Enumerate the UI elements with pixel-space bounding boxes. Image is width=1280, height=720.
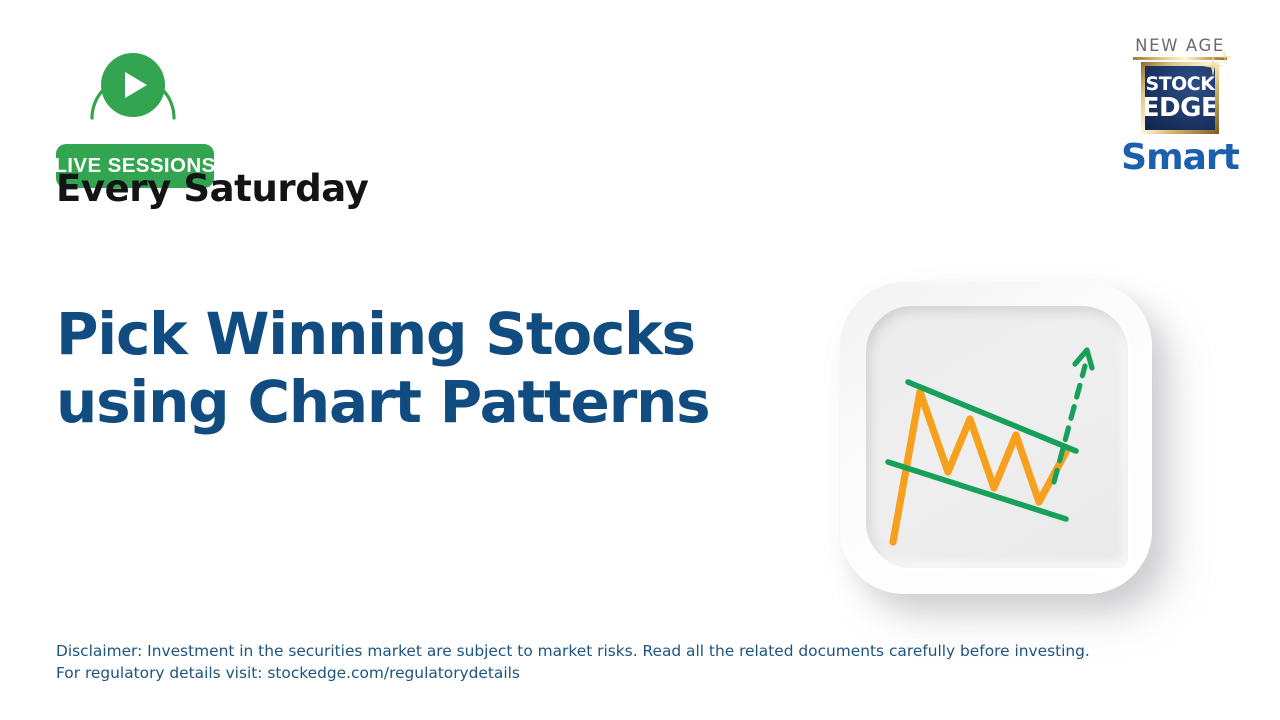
- headline-line-1: Pick Winning Stocks: [56, 300, 856, 368]
- schedule-text: Every Saturday: [56, 167, 368, 210]
- page-title: Pick Winning Stocks using Chart Patterns: [56, 300, 856, 436]
- disclaimer-line-1: Disclaimer: Investment in the securities…: [56, 640, 1090, 662]
- gold-divider-line: [1133, 57, 1227, 60]
- rounded-square-card: [840, 282, 1152, 594]
- brand-tagline: NEW AGE: [1135, 36, 1225, 56]
- stockedge-logo-inner: STOCK EDGE: [1145, 66, 1215, 130]
- logo-text-smart: Smart: [1121, 138, 1239, 178]
- disclaimer-line-2: For regulatory details visit: stockedge.…: [56, 662, 1090, 684]
- disclaimer-text: Disclaimer: Investment in the securities…: [56, 640, 1090, 684]
- upper-trendline: [908, 382, 1076, 451]
- slide-canvas: LIVE SESSIONS Every Saturday Pick Winnin…: [0, 0, 1280, 720]
- card-inner-face: [866, 306, 1128, 568]
- stockedge-logo-square: STOCK EDGE: [1141, 62, 1219, 134]
- chart-pattern-svg: [866, 306, 1128, 568]
- stockedge-smart-logo: NEW AGE STOCK EDGE Smart: [1124, 36, 1236, 178]
- logo-text-stock: STOCK: [1146, 75, 1215, 94]
- lower-trendline: [888, 462, 1066, 519]
- chart-pattern-illustration: [834, 278, 1174, 610]
- zigzag-price-line: [893, 392, 1066, 542]
- logo-text-edge: EDGE: [1145, 95, 1215, 121]
- headline-line-2: using Chart Patterns: [56, 368, 856, 436]
- live-sessions-badge-group: LIVE SESSIONS: [56, 36, 286, 156]
- play-circle-icon: [85, 36, 181, 132]
